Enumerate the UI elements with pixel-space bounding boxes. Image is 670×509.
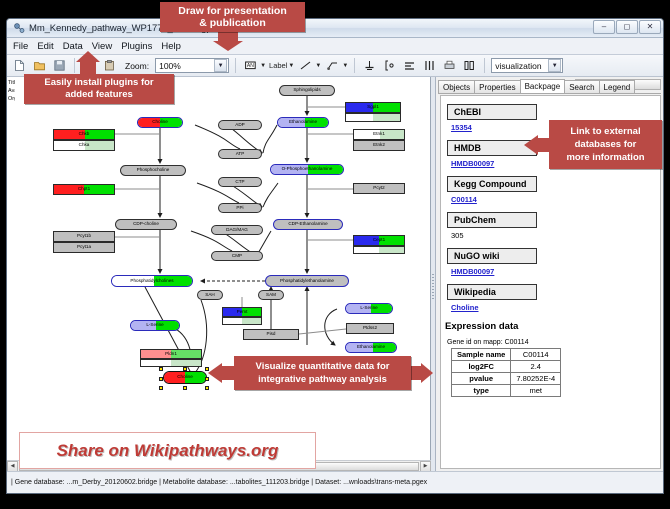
zoom-label: Zoom: (125, 61, 149, 71)
callout-plugins: Easily install plugins for added feature… (24, 74, 174, 104)
node-ethanolamine-right[interactable]: Ethanolamine (345, 342, 397, 353)
node-l-serine-right[interactable]: L-Serine (345, 303, 393, 314)
db-link-wikipedia[interactable]: Choline (451, 303, 660, 312)
callout-link-line3: more information (566, 151, 644, 164)
expression-table: Sample name C00114 log2FC 2.4 pvalue 7.8… (451, 348, 561, 397)
pathway-canvas-pane[interactable]: Title: Availa Organi (7, 77, 431, 471)
visualization-value: visualization (495, 61, 541, 71)
selection-handle[interactable] (159, 367, 163, 371)
menu-bar: File Edit Data View Plugins Help (7, 38, 663, 55)
node-choline-top[interactable]: Choline (137, 117, 183, 128)
gene-chpt1[interactable]: Chpt1 (53, 184, 115, 195)
chevron-down-icon-interaction[interactable]: ▼ (342, 63, 348, 69)
db-block-pubchem: PubChem 305 (447, 210, 660, 240)
gene-cept1-row2[interactable] (353, 246, 405, 254)
chevron-down-icon-label[interactable]: ▼ (288, 63, 294, 69)
db-name-chebi: ChEBI (447, 104, 537, 120)
callout-link-line2: databases for (575, 138, 637, 151)
title-bar: Mm_Kennedy_pathway_WP1771_45176.gpml – ◻… (7, 19, 663, 38)
node-sphingolipids[interactable]: Sphingolipids (279, 85, 335, 96)
node-phosphatidylethanolamine[interactable]: Phosphatidylethanolamine (265, 275, 349, 287)
callout-draw-arrow-head (213, 41, 243, 51)
group-icon[interactable] (461, 57, 478, 74)
minimize-button[interactable]: – (593, 20, 615, 34)
node-dag-mag[interactable]: DAG/MAG (211, 225, 263, 235)
node-phosphocholine[interactable]: Phosphocholine (120, 165, 186, 176)
tab-backpage[interactable]: Backpage (520, 79, 566, 93)
gene-pemt[interactable]: Pemt (222, 307, 262, 317)
label-tool-text: Label (269, 61, 287, 70)
paste-icon[interactable] (101, 57, 118, 74)
node-fill (141, 360, 201, 366)
interaction-icon[interactable] (324, 57, 341, 74)
gene-chkb[interactable]: Chkb (53, 129, 115, 140)
menu-item-help[interactable]: Help (161, 41, 181, 52)
callout-plugins-line1: Easily install plugins for (44, 77, 153, 89)
visualization-combo[interactable]: visualization ▼ (491, 58, 563, 73)
status-bar: | Gene database: ...m_Derby_20120602.bri… (7, 471, 663, 493)
gene-pcyt1a[interactable]: Pcyt1a (53, 242, 115, 253)
db-name-nugowiki: NuGO wiki (447, 248, 537, 264)
status-text: | Gene database: ...m_Derby_20120602.bri… (11, 479, 427, 486)
print-icon[interactable] (441, 57, 458, 74)
node-choline-selected[interactable]: Choline (163, 371, 207, 384)
db-block-kegg: Kegg Compound C00114 (447, 174, 660, 204)
interaction-tool[interactable]: ▼ (324, 57, 348, 74)
node-ethanolamine-top[interactable]: Ethanolamine (277, 117, 329, 128)
callout-link: Link to external databases for more info… (549, 120, 662, 169)
node-cmp[interactable]: CMP (211, 251, 263, 261)
gene-pisd[interactable]: Pisd (243, 329, 299, 340)
db-name-kegg: Kegg Compound (447, 176, 537, 192)
expression-key: log2FC (452, 361, 511, 373)
gene-id-line: Gene id on mapp: C00114 (447, 339, 660, 346)
callout-plugins-arrow-head (76, 51, 100, 62)
toolbar-separator-3 (354, 58, 355, 73)
callout-visualize-arrow-head-right (421, 363, 433, 383)
table-row: Sample name C00114 (452, 349, 561, 361)
svg-text:AN: AN (247, 63, 254, 69)
line-icon[interactable] (297, 57, 314, 74)
datanode-tool[interactable]: AN ▼ (242, 57, 266, 74)
menu-item-view[interactable]: View (92, 41, 112, 52)
gene-chka[interactable]: Chka (53, 140, 115, 151)
node-cdp-ethanolamine[interactable]: CDP-Ethanolamine (273, 219, 343, 230)
bracket-icon[interactable] (381, 57, 398, 74)
expression-data-heading: Expression data (445, 321, 660, 332)
selection-handle[interactable] (183, 386, 187, 390)
table-row: log2FC 2.4 (452, 361, 561, 373)
selection-handle[interactable] (205, 386, 209, 390)
db-block-nugowiki: NuGO wiki HMDB00097 (447, 246, 660, 276)
chevron-down-icon[interactable]: ▼ (214, 59, 227, 72)
gene-pcyt2[interactable]: Pcyt2 (353, 183, 405, 194)
node-fill (223, 318, 261, 324)
table-row: type met (452, 385, 561, 397)
selection-handle[interactable] (183, 367, 187, 371)
db-link-kegg[interactable]: C00114 (451, 195, 660, 204)
node-ctp[interactable]: CTP (218, 177, 262, 187)
zoom-combo[interactable]: 100% ▼ (155, 58, 229, 73)
callout-visualize-arrow-head-left (208, 363, 222, 383)
menu-item-edit[interactable]: Edit (37, 41, 53, 52)
chevron-down-icon-visualization[interactable]: ▼ (548, 59, 561, 72)
callout-draw-arrow-stem (218, 32, 238, 41)
expression-key: pvalue (452, 373, 511, 385)
anchor-icon[interactable] (361, 57, 378, 74)
expression-value: met (511, 385, 561, 397)
zoom-value: 100% (159, 61, 181, 71)
gene-pldn1-row2[interactable] (140, 359, 202, 367)
gene-sgpl1-row2[interactable] (345, 113, 401, 122)
expression-value: 7.80252E-4 (511, 373, 561, 385)
expression-key: Sample name (452, 349, 511, 361)
new-file-icon[interactable] (11, 57, 28, 74)
callout-visualize: Visualize quantitative data for integrat… (234, 356, 411, 390)
screenshot-root: Mm_Kennedy_pathway_WP1771_45176.gpml – ◻… (0, 0, 670, 509)
table-row: pvalue 7.80252E-4 (452, 373, 561, 385)
gene-ptdss2[interactable]: Ptdss2 (346, 323, 394, 334)
tab-properties[interactable]: Properties (474, 80, 520, 93)
node-ppi[interactable]: PPi (218, 203, 262, 213)
menu-item-data[interactable]: Data (63, 41, 83, 52)
tab-legend[interactable]: Legend (599, 80, 636, 93)
db-block-wikipedia: Wikipedia Choline (447, 282, 660, 312)
node-atp[interactable]: ATP (218, 149, 262, 159)
selection-handle[interactable] (159, 386, 163, 390)
db-name-pubchem: PubChem (447, 212, 537, 228)
callout-link-line1: Link to external (570, 125, 640, 138)
callout-draw-line2: & publication (199, 17, 266, 29)
node-o-phosphoethanolamine[interactable]: O-Phosphoethanolamine (270, 164, 344, 175)
gene-cept1[interactable]: Cept1 (353, 235, 405, 246)
menu-item-plugins[interactable]: Plugins (121, 41, 152, 52)
selection-handle[interactable] (159, 377, 163, 381)
callout-draw-line1: Draw for presentation (178, 5, 287, 17)
expression-value: C00114 (511, 349, 561, 361)
gene-pcyt1b[interactable]: Pcyt1b (53, 231, 115, 242)
toolbar-separator (74, 58, 75, 73)
save-icon[interactable] (51, 57, 68, 74)
node-fill (346, 114, 400, 121)
open-folder-icon[interactable] (31, 57, 48, 74)
toolbar-separator-4 (484, 58, 485, 73)
gene-etnk2[interactable]: Etnk2 (353, 140, 405, 151)
chevron-down-icon-datanode[interactable]: ▼ (260, 63, 266, 69)
gene-sgpl1[interactable]: Sgpl1 (345, 102, 401, 113)
chevron-down-icon-line[interactable]: ▼ (315, 63, 321, 69)
gene-pemt-row2[interactable] (222, 317, 262, 325)
node-sah[interactable]: SAH (197, 290, 223, 300)
callout-visualize-line2: integrative pathway analysis (258, 373, 387, 386)
db-name-wikipedia: Wikipedia (447, 284, 537, 300)
gene-pldn1[interactable]: Pldn1 (140, 349, 202, 359)
distribute-icon[interactable] (421, 57, 438, 74)
db-value-pubchem: 305 (451, 231, 660, 240)
pathway-diagram[interactable]: Sphingolipids Choline Ethanolamine ADP A… (15, 77, 431, 471)
tab-objects[interactable]: Objects (438, 80, 475, 93)
datanode-icon[interactable]: AN (242, 57, 259, 74)
share-banner-text: Share on Wikipathways.org (57, 441, 279, 461)
node-cdp-choline[interactable]: CDP-choline (115, 219, 177, 230)
callout-draw: Draw for presentation & publication (160, 2, 305, 32)
callout-link-arrow-head (524, 135, 538, 155)
align-icon[interactable] (401, 57, 418, 74)
tab-search[interactable]: Search (564, 80, 599, 93)
application-icon (13, 22, 25, 34)
side-panel-tabs: Objects Properties Backpage Search Legen… (438, 79, 661, 94)
share-banner: Share on Wikipathways.org (19, 432, 316, 469)
scroll-right-icon[interactable]: ▶ (420, 461, 431, 472)
scroll-left-icon[interactable]: ◀ (7, 461, 18, 472)
node-phosphatidylcholines[interactable]: Phosphatidylcholines (111, 275, 193, 287)
menu-item-file[interactable]: File (13, 41, 28, 52)
node-adp[interactable]: ADP (218, 120, 262, 130)
toolbar-separator-2 (235, 58, 236, 73)
node-sam[interactable]: SAM (258, 290, 284, 300)
line-tool[interactable]: ▼ (297, 57, 321, 74)
expression-value: 2.4 (511, 361, 561, 373)
maximize-button[interactable]: ◻ (616, 20, 638, 34)
close-button[interactable]: ✕ (639, 20, 661, 34)
node-fill (354, 247, 404, 253)
db-link-nugowiki[interactable]: HMDB00097 (451, 267, 660, 276)
callout-visualize-line1: Visualize quantitative data for (256, 360, 390, 373)
label-tool[interactable]: Label ▼ (269, 61, 294, 70)
callout-plugins-line2: added features (65, 89, 133, 101)
gene-etnk1[interactable]: Etnk1 (353, 129, 405, 140)
window-controls[interactable]: – ◻ ✕ (593, 20, 661, 34)
node-l-serine-left[interactable]: L-Serine (130, 320, 180, 331)
expression-key: type (452, 385, 511, 397)
